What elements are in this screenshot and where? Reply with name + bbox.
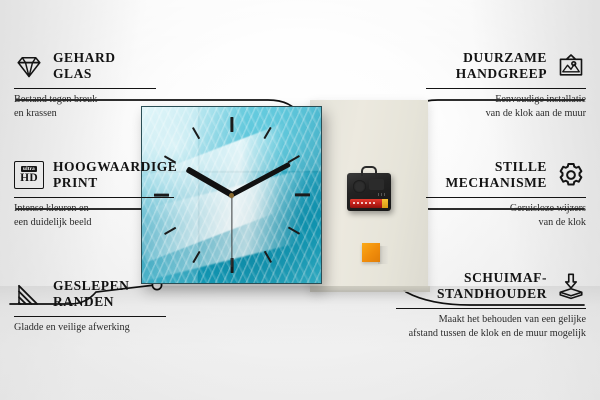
clock-second-hand xyxy=(231,195,232,267)
clock-mechanism xyxy=(347,173,391,211)
feature-description: Maakt het behouden van een gelijke afsta… xyxy=(396,313,586,340)
feature-description: Geruisloze wijzers van de klok xyxy=(426,202,586,229)
feature-title: HOOGWAARDIGE PRINT xyxy=(53,159,177,192)
infographic-canvas: GEHARD GLAS Bestand tegen breuk en krass… xyxy=(0,0,600,400)
press-down-pad-icon xyxy=(556,271,586,301)
mechanism-battery xyxy=(350,199,388,208)
ultra-hd-icon: ultraHD xyxy=(14,161,44,189)
foam-spacer xyxy=(362,243,380,262)
feature-title: GEHARD GLAS xyxy=(53,50,116,83)
feature-gehard-glas: GEHARD GLAS Bestand tegen breuk en krass… xyxy=(14,50,174,121)
feature-description: Intense kleuren en een duidelijk beeld xyxy=(14,202,189,229)
feature-title: DUURZAME HANDGREEP xyxy=(456,50,547,83)
diamond-icon xyxy=(14,51,44,81)
feature-rule xyxy=(426,88,586,89)
feature-description: Gladde en veilige afwerking xyxy=(14,321,184,335)
mechanism-housing-detail xyxy=(369,179,384,190)
mechanism-label xyxy=(378,193,387,196)
feature-description: Bestand tegen breuk en krassen xyxy=(14,93,174,120)
feature-duurzame-handgreep: DUURZAME HANDGREEP Eenvoudige installati… xyxy=(426,50,586,121)
feature-rule xyxy=(14,316,166,317)
feature-rule xyxy=(396,308,586,309)
beveled-edges-icon xyxy=(14,279,44,309)
feature-hoogwaardige-print: ultraHD HOOGWAARDIGE PRINT Intense kleur… xyxy=(14,159,189,230)
feature-rule xyxy=(14,197,174,198)
feature-description: Eenvoudige installatie van de klok aan d… xyxy=(426,93,586,120)
feature-rule xyxy=(14,88,156,89)
framed-picture-hanger-icon xyxy=(556,51,586,81)
gear-icon xyxy=(556,160,586,190)
mechanism-shaft xyxy=(353,180,366,193)
mechanism-hanger-loop xyxy=(361,166,377,176)
feature-geslepen-randen: GESLEPEN RANDEN Gladde en veilige afwerk… xyxy=(14,278,184,335)
feature-rule xyxy=(426,197,586,198)
feature-title: GESLEPEN RANDEN xyxy=(53,278,129,311)
feature-schuimafstandhouder: SCHUIMAF- STANDHOUDER Maakt het behouden… xyxy=(396,270,586,341)
clock-center-pin xyxy=(229,193,234,198)
feature-stille-mechanisme: STILLE MECHANISME Geruisloze wijzers van… xyxy=(426,159,586,230)
feature-title: STILLE MECHANISME xyxy=(445,159,547,192)
feature-title: SCHUIMAF- STANDHOUDER xyxy=(437,270,547,303)
